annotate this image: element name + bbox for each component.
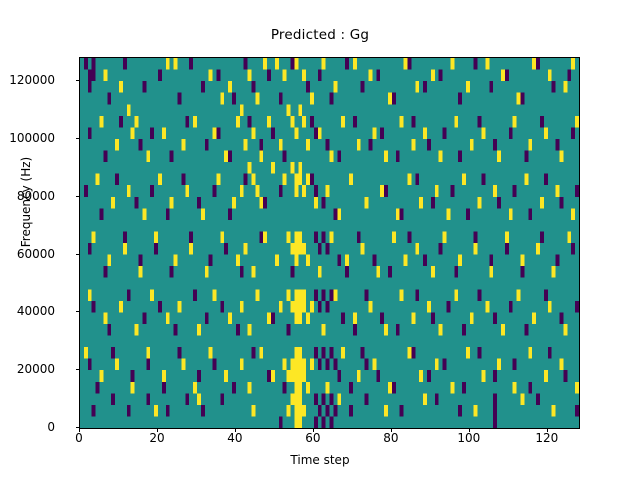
y-tick-label: 80000 [0,190,55,202]
x-axis-label: Time step [0,453,640,467]
x-tick-label: 60 [273,432,353,444]
heatmap-image [80,58,579,428]
y-tick-label: 100000 [0,132,55,144]
y-tick-label: 120000 [0,74,55,86]
x-tick-label: 100 [429,432,509,444]
figure-canvas: Predicted : Gg Frequency (Hz) Time step … [0,0,640,480]
x-tick-label: 40 [195,432,275,444]
x-tick-label: 0 [39,432,119,444]
y-tick-label: 40000 [0,305,55,317]
x-tick-label: 20 [117,432,197,444]
x-tick-label: 120 [507,432,587,444]
page-title: Predicted : Gg [0,27,640,43]
x-tick-label: 80 [351,432,431,444]
y-tick-label: 20000 [0,363,55,375]
y-tick-label: 60000 [0,248,55,260]
heatmap-plot-area[interactable] [79,57,580,429]
